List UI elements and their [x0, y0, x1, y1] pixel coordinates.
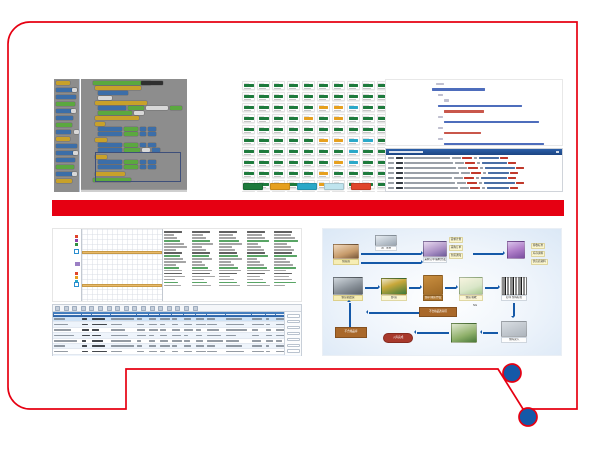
data-grid-cell[interactable]: [266, 324, 271, 326]
data-grid-cell[interactable]: [207, 329, 219, 331]
data-grid-cell[interactable]: [252, 324, 263, 326]
data-grid-cell[interactable]: [54, 351, 68, 353]
gantt-task-bar[interactable]: [82, 251, 162, 254]
data-grid-cell[interactable]: [149, 351, 158, 353]
toolbar-button[interactable]: [193, 306, 198, 311]
panel-gantt-and-datagrid[interactable]: [52, 228, 302, 356]
flow-node-staging[interactable]: 暂存 理货 作业: [423, 273, 443, 301]
data-grid-cell[interactable]: [92, 329, 99, 331]
data-grid-cell[interactable]: [172, 340, 182, 342]
data-grid-cell[interactable]: [160, 345, 169, 347]
data-grid-cell[interactable]: [226, 351, 244, 353]
data-grid-cell[interactable]: [137, 329, 145, 331]
data-grid-cell[interactable]: [207, 340, 223, 342]
toolbox-block[interactable]: [56, 116, 73, 120]
toolbar-button[interactable]: [107, 306, 112, 311]
toolbox-block[interactable]: [56, 172, 73, 176]
data-grid-cell[interactable]: [160, 335, 167, 337]
status-card[interactable]: [242, 114, 255, 123]
toolbox-block-slot[interactable]: [71, 109, 76, 113]
toolbar-button[interactable]: [132, 306, 137, 311]
data-grid-side-button[interactable]: [287, 349, 300, 353]
data-grid-header-cell[interactable]: [226, 314, 251, 316]
data-grid-cell[interactable]: [160, 329, 166, 331]
gantt-timeline-chart[interactable]: [81, 229, 163, 301]
data-grid-cell[interactable]: [276, 340, 283, 342]
data-grid-cell[interactable]: [111, 340, 131, 342]
status-card[interactable]: [272, 169, 285, 178]
workspace-block[interactable]: [148, 127, 156, 131]
toolbox-block[interactable]: [56, 137, 70, 141]
status-card[interactable]: [257, 191, 270, 192]
status-card[interactable]: [347, 136, 360, 145]
data-grid-cell[interactable]: [266, 351, 271, 353]
workspace-block[interactable]: [124, 127, 138, 131]
panel-logistics-flow-diagram[interactable]: 供应商生产设备采购订单 编制分发供应商送货卸 货暂存 理货 作业到货 验收打印 …: [322, 228, 562, 356]
status-card[interactable]: [347, 125, 360, 134]
status-card[interactable]: [347, 169, 360, 178]
status-card[interactable]: [272, 92, 285, 101]
status-card[interactable]: [347, 158, 360, 167]
blocks-horizontal-scrollbar[interactable]: [81, 189, 187, 192]
flow-node-transport[interactable]: 供应商送货: [333, 275, 363, 301]
console-log-row[interactable]: [388, 181, 560, 185]
data-grid-cell[interactable]: [184, 335, 189, 337]
data-grid-cell[interactable]: [82, 324, 88, 326]
flow-node-complete[interactable]: 入库完成: [383, 333, 413, 343]
status-card[interactable]: [257, 114, 270, 123]
data-grid-cell[interactable]: [196, 351, 206, 353]
data-grid-cell[interactable]: [82, 335, 90, 337]
status-card[interactable]: [317, 92, 330, 101]
toolbox-block[interactable]: [56, 165, 74, 169]
data-grid-cell[interactable]: [226, 345, 242, 347]
status-card[interactable]: [302, 169, 315, 178]
status-card[interactable]: [317, 103, 330, 112]
toolbar-button[interactable]: [64, 306, 69, 311]
workspace-block[interactable]: [148, 132, 156, 136]
status-card[interactable]: [332, 169, 345, 178]
status-card[interactable]: [287, 191, 300, 192]
gantt-milestone-dot[interactable]: [75, 239, 78, 242]
status-card[interactable]: [272, 103, 285, 112]
data-grid-cell[interactable]: [82, 329, 89, 331]
workspace-block[interactable]: [95, 138, 107, 142]
status-card[interactable]: [347, 147, 360, 156]
toolbox-block[interactable]: [56, 144, 77, 148]
toolbox-block[interactable]: [56, 158, 75, 162]
data-grid-cell[interactable]: [111, 318, 134, 320]
status-card[interactable]: [287, 103, 300, 112]
toolbar-button[interactable]: [72, 306, 77, 311]
data-grid-cell[interactable]: [137, 324, 144, 326]
workspace-block[interactable]: [146, 106, 168, 110]
gantt-milestone-dot[interactable]: [75, 276, 78, 279]
status-card[interactable]: [347, 103, 360, 112]
workspace-block[interactable]: [95, 101, 147, 105]
workspace-block[interactable]: [98, 143, 122, 147]
data-grid-header-cell[interactable]: [160, 314, 171, 316]
data-grid-cell[interactable]: [149, 335, 154, 337]
flow-node-supplier[interactable]: 供应商: [333, 243, 359, 265]
data-grid-cell[interactable]: [137, 340, 142, 342]
status-card[interactable]: [287, 125, 300, 134]
data-grid-cell[interactable]: [172, 324, 178, 326]
data-grid-cell[interactable]: [111, 329, 126, 331]
console-log-row[interactable]: [388, 186, 560, 190]
data-grid-side-buttons[interactable]: [284, 312, 301, 355]
status-card[interactable]: [332, 158, 345, 167]
data-grid-side-button[interactable]: [287, 338, 300, 342]
gantt-node-rail[interactable]: [73, 229, 81, 301]
status-card[interactable]: [362, 136, 375, 145]
status-card[interactable]: [257, 92, 270, 101]
data-grid-cell[interactable]: [149, 318, 157, 320]
data-grid-cell[interactable]: [149, 345, 157, 347]
data-grid-cell[interactable]: [111, 351, 123, 353]
data-grid-cell[interactable]: [196, 329, 201, 331]
data-grid[interactable]: [52, 304, 302, 356]
data-grid-cell[interactable]: [92, 351, 107, 353]
data-grid-cell[interactable]: [111, 324, 123, 326]
status-card[interactable]: [242, 169, 255, 178]
status-card[interactable]: [302, 147, 315, 156]
toolbar-button[interactable]: [98, 306, 103, 311]
status-card[interactable]: [257, 147, 270, 156]
status-card[interactable]: [242, 103, 255, 112]
status-card[interactable]: [302, 81, 315, 90]
workspace-block[interactable]: [134, 111, 144, 115]
status-card[interactable]: [332, 103, 345, 112]
workspace-block[interactable]: [140, 127, 146, 131]
workspace-block[interactable]: [170, 106, 182, 110]
toolbar-button[interactable]: [141, 306, 146, 311]
status-card[interactable]: [242, 191, 255, 192]
status-card[interactable]: [317, 125, 330, 134]
status-card[interactable]: [257, 169, 270, 178]
toolbox-block[interactable]: [56, 102, 75, 106]
toolbox-block-slot[interactable]: [72, 88, 77, 92]
data-grid-cell[interactable]: [226, 324, 244, 326]
data-grid-cell[interactable]: [207, 324, 217, 326]
status-card[interactable]: [242, 158, 255, 167]
data-grid-cell[interactable]: [207, 318, 215, 320]
status-card[interactable]: [332, 191, 345, 192]
toolbox-block-slot[interactable]: [72, 172, 77, 176]
legend-chip-orange[interactable]: [270, 183, 290, 190]
data-grid-cell[interactable]: [184, 324, 192, 326]
panel-ide-code-console[interactable]: [385, 79, 563, 192]
status-card[interactable]: [362, 191, 375, 192]
gantt-milestone-dot[interactable]: [75, 243, 78, 246]
workspace-block[interactable]: [124, 132, 138, 136]
panel-status-card-grid[interactable]: [240, 79, 392, 192]
status-card[interactable]: [287, 92, 300, 101]
status-card[interactable]: [362, 114, 375, 123]
data-grid-cell[interactable]: [252, 318, 262, 320]
data-grid-cell[interactable]: [226, 340, 239, 342]
status-card[interactable]: [287, 136, 300, 145]
data-grid-cell[interactable]: [196, 318, 205, 320]
status-card[interactable]: [257, 81, 270, 90]
status-card[interactable]: [242, 125, 255, 134]
status-card[interactable]: [362, 103, 375, 112]
data-grid-cell[interactable]: [54, 340, 77, 342]
workspace-block[interactable]: [98, 106, 126, 110]
data-grid-cell[interactable]: [266, 318, 270, 320]
flow-node-inspect[interactable]: 到货 验收: [459, 275, 483, 301]
flow-node-equipment[interactable]: 生产设备: [375, 235, 397, 251]
data-grid-cell[interactable]: [252, 329, 258, 331]
status-card[interactable]: [332, 81, 345, 90]
console-log-row[interactable]: [388, 171, 560, 175]
data-grid-toolbar[interactable]: [53, 305, 301, 312]
data-grid-side-button[interactable]: [287, 326, 300, 330]
data-grid-cell[interactable]: [172, 329, 180, 331]
status-card[interactable]: [347, 81, 360, 90]
data-grid-header-cell[interactable]: [92, 314, 110, 316]
toolbar-button[interactable]: [81, 306, 86, 311]
data-grid-header-cell[interactable]: [184, 314, 195, 316]
data-grid-cell[interactable]: [54, 324, 68, 326]
toolbar-button[interactable]: [150, 306, 155, 311]
data-grid-cell[interactable]: [207, 351, 217, 353]
data-grid-header-cell[interactable]: [82, 314, 91, 316]
legend-chip-red[interactable]: [351, 183, 371, 190]
status-card[interactable]: [362, 81, 375, 90]
data-grid-header-cell[interactable]: [207, 314, 225, 316]
toolbox-block[interactable]: [56, 130, 71, 134]
data-grid-cell[interactable]: [92, 340, 103, 342]
data-grid-cell[interactable]: [252, 335, 259, 337]
toolbox-block-slot[interactable]: [73, 151, 78, 155]
data-grid-cell[interactable]: [160, 340, 168, 342]
status-card[interactable]: [317, 147, 330, 156]
data-grid-cell[interactable]: [207, 345, 215, 347]
data-grid-cell[interactable]: [172, 318, 177, 320]
gantt-selected-node[interactable]: [74, 282, 79, 287]
blocks-workspace-canvas[interactable]: [81, 79, 187, 192]
toolbar-button[interactable]: [89, 306, 94, 311]
status-card[interactable]: [332, 147, 345, 156]
data-grid-cell[interactable]: [184, 345, 191, 347]
data-grid-cell[interactable]: [149, 329, 159, 331]
status-card[interactable]: [362, 92, 375, 101]
status-card[interactable]: [317, 169, 330, 178]
workspace-block[interactable]: [98, 111, 132, 115]
data-grid-cell[interactable]: [92, 345, 105, 347]
workspace-block[interactable]: [98, 127, 122, 131]
status-card[interactable]: [272, 125, 285, 134]
toolbox-block-slot[interactable]: [74, 130, 79, 134]
data-grid-cell[interactable]: [172, 345, 177, 347]
data-grid-side-button[interactable]: [287, 332, 300, 336]
status-card[interactable]: [317, 158, 330, 167]
status-card[interactable]: [302, 136, 315, 145]
data-grid-header-cell[interactable]: [137, 314, 148, 316]
status-card[interactable]: [242, 136, 255, 145]
close-icon[interactable]: [556, 151, 559, 153]
data-grid-cell[interactable]: [266, 345, 270, 347]
workspace-block[interactable]: [98, 132, 122, 136]
status-card[interactable]: [287, 114, 300, 123]
data-grid-side-button[interactable]: [287, 344, 300, 348]
status-card[interactable]: [317, 81, 330, 90]
data-grid-cell[interactable]: [226, 335, 236, 337]
status-card[interactable]: [347, 114, 360, 123]
status-card[interactable]: [242, 81, 255, 90]
status-card[interactable]: [332, 125, 345, 134]
data-grid-header-cell[interactable]: [54, 314, 81, 316]
status-card[interactable]: [302, 103, 315, 112]
flow-node-unload[interactable]: 卸 货: [381, 277, 407, 301]
toolbox-block[interactable]: [56, 179, 72, 183]
data-grid-header-cell[interactable]: [149, 314, 160, 316]
data-grid-cell[interactable]: [184, 340, 190, 342]
data-grid-cell[interactable]: [252, 345, 262, 347]
workspace-block[interactable]: [141, 81, 163, 85]
data-grid-cell[interactable]: [92, 324, 107, 326]
status-card[interactable]: [362, 169, 375, 178]
status-card[interactable]: [302, 114, 315, 123]
data-grid-cell[interactable]: [276, 318, 284, 320]
toolbar-button[interactable]: [124, 306, 129, 311]
data-grid-cell[interactable]: [160, 324, 165, 326]
status-card[interactable]: [272, 158, 285, 167]
workspace-block[interactable]: [128, 106, 144, 110]
gantt-selected-node[interactable]: [74, 249, 79, 254]
data-grid-cell[interactable]: [184, 318, 191, 320]
data-grid-cell[interactable]: [226, 329, 247, 331]
workspace-block[interactable]: [124, 143, 138, 147]
data-grid-cell[interactable]: [137, 318, 143, 320]
legend-chip-green[interactable]: [243, 183, 263, 190]
data-grid-cell[interactable]: [196, 345, 205, 347]
legend-chip-pale-cyan[interactable]: [324, 183, 344, 190]
flow-node-archive[interactable]: [507, 241, 525, 259]
table-row[interactable]: [53, 355, 301, 356]
data-grid-cell[interactable]: [266, 340, 274, 342]
console-log-row[interactable]: [388, 176, 560, 180]
status-card[interactable]: [317, 191, 330, 192]
status-card[interactable]: [362, 158, 375, 167]
data-grid-cell[interactable]: [54, 329, 71, 331]
data-grid-cell[interactable]: [252, 340, 261, 342]
data-grid-cell[interactable]: [54, 318, 65, 320]
data-grid-cell[interactable]: [54, 335, 74, 337]
data-grid-cell[interactable]: [172, 351, 178, 353]
status-card[interactable]: [302, 158, 315, 167]
status-card[interactable]: [287, 158, 300, 167]
workspace-block[interactable]: [95, 122, 105, 126]
gantt-rail-marker[interactable]: [75, 262, 80, 266]
flow-node-putaway[interactable]: [451, 323, 477, 343]
toolbox-block[interactable]: [56, 95, 76, 99]
status-card[interactable]: [317, 136, 330, 145]
gantt-schedule-view[interactable]: [52, 228, 302, 302]
data-grid-cell[interactable]: [196, 335, 203, 337]
legend-chip-cyan[interactable]: [297, 183, 317, 190]
workspace-block[interactable]: [98, 96, 112, 100]
console-output-panel[interactable]: [385, 148, 563, 192]
status-card[interactable]: [272, 136, 285, 145]
data-grid-body[interactable]: [53, 317, 301, 356]
data-grid-cell[interactable]: [82, 345, 87, 347]
toolbar-button[interactable]: [175, 306, 180, 311]
flow-node-order-office[interactable]: 采购订单 编制分发: [423, 237, 447, 263]
workspace-block[interactable]: [95, 86, 141, 90]
flow-node-label[interactable]: 打印 条码标签: [501, 275, 527, 301]
data-grid-cell[interactable]: [82, 351, 88, 353]
flow-node-scan[interactable]: 条码录入: [501, 319, 527, 343]
status-card[interactable]: [257, 103, 270, 112]
data-grid-header-cell[interactable]: [172, 314, 183, 316]
status-card[interactable]: [257, 158, 270, 167]
status-card[interactable]: [287, 169, 300, 178]
data-grid-header-cell[interactable]: [252, 314, 265, 316]
code-editor-area[interactable]: [385, 79, 563, 146]
gantt-task-bar[interactable]: [82, 284, 162, 287]
data-grid-cell[interactable]: [54, 345, 65, 347]
status-card[interactable]: [332, 136, 345, 145]
status-card[interactable]: [332, 92, 345, 101]
data-grid-cell[interactable]: [196, 324, 206, 326]
flow-node-reject-area[interactable]: 不合格品暂存区: [419, 307, 457, 317]
data-grid-cell[interactable]: [92, 335, 101, 337]
data-grid-cell[interactable]: [111, 335, 128, 337]
status-card[interactable]: [272, 147, 285, 156]
workspace-block[interactable]: [140, 143, 146, 147]
toolbox-block[interactable]: [56, 123, 72, 127]
status-card[interactable]: [272, 114, 285, 123]
status-card[interactable]: [242, 147, 255, 156]
console-log-row[interactable]: [388, 191, 560, 192]
console-log-row[interactable]: [388, 166, 560, 170]
status-card[interactable]: [302, 125, 315, 134]
data-grid-cell[interactable]: [111, 345, 134, 347]
data-grid-cell[interactable]: [276, 345, 284, 347]
status-card[interactable]: [362, 125, 375, 134]
data-grid-cell[interactable]: [160, 351, 165, 353]
data-grid-header-cell[interactable]: [111, 314, 136, 316]
data-grid-cell[interactable]: [226, 318, 242, 320]
data-grid-cell[interactable]: [207, 335, 221, 337]
workspace-block[interactable]: [148, 143, 156, 147]
data-grid-cell[interactable]: [196, 340, 204, 342]
data-grid-cell[interactable]: [82, 318, 87, 320]
status-card[interactable]: [287, 81, 300, 90]
status-card[interactable]: [347, 191, 360, 192]
data-grid-cell[interactable]: [252, 351, 263, 353]
gantt-milestone-dot[interactable]: [75, 272, 78, 275]
data-grid-cell[interactable]: [137, 345, 143, 347]
data-grid-header-cell[interactable]: [196, 314, 207, 316]
data-grid-side-button[interactable]: [287, 320, 300, 324]
status-card[interactable]: [332, 114, 345, 123]
toolbox-block[interactable]: [56, 81, 70, 85]
panel-blocks-editor[interactable]: [54, 79, 187, 192]
data-grid-cell[interactable]: [149, 324, 158, 326]
data-grid-cell[interactable]: [184, 329, 193, 331]
data-grid-cell[interactable]: [149, 340, 155, 342]
blocks-toolbox-palette[interactable]: [54, 79, 80, 192]
status-card[interactable]: [287, 147, 300, 156]
toolbar-button[interactable]: [115, 306, 120, 311]
workspace-block[interactable]: [140, 132, 146, 136]
data-grid-cell[interactable]: [172, 335, 181, 337]
workspace-block[interactable]: [98, 91, 128, 95]
toolbar-button[interactable]: [158, 306, 163, 311]
